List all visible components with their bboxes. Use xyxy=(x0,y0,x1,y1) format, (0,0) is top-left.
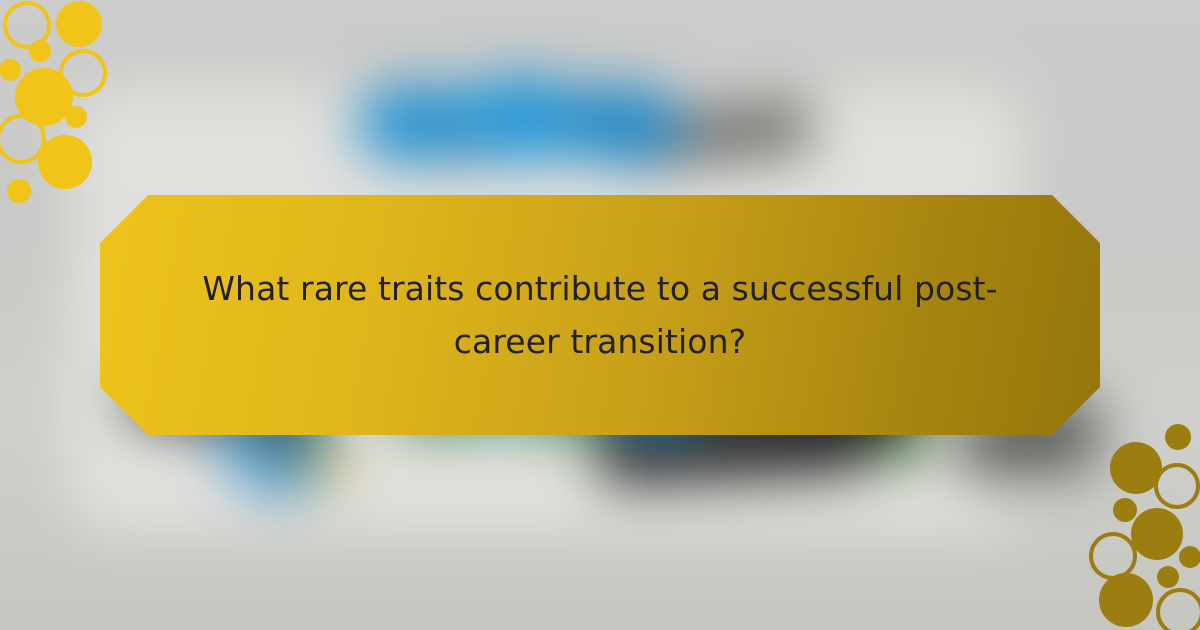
olive-circle-cluster-2 xyxy=(1154,463,1200,509)
headline-banner: What rare traits contribute to a success… xyxy=(100,195,1100,435)
olive-circle-cluster-7 xyxy=(1157,566,1179,588)
olive-circle-cluster-6 xyxy=(1179,546,1200,568)
share-card: What rare traits contribute to a success… xyxy=(0,0,1200,630)
olive-circle-cluster-8 xyxy=(1099,573,1153,627)
olive-circle-cluster-4 xyxy=(1131,508,1183,560)
olive-circle-cluster-0 xyxy=(1165,424,1191,450)
headline-text: What rare traits contribute to a success… xyxy=(170,262,1030,369)
olive-circle-cluster-3 xyxy=(1113,498,1137,522)
olive-circle-cluster-9 xyxy=(1156,588,1200,630)
